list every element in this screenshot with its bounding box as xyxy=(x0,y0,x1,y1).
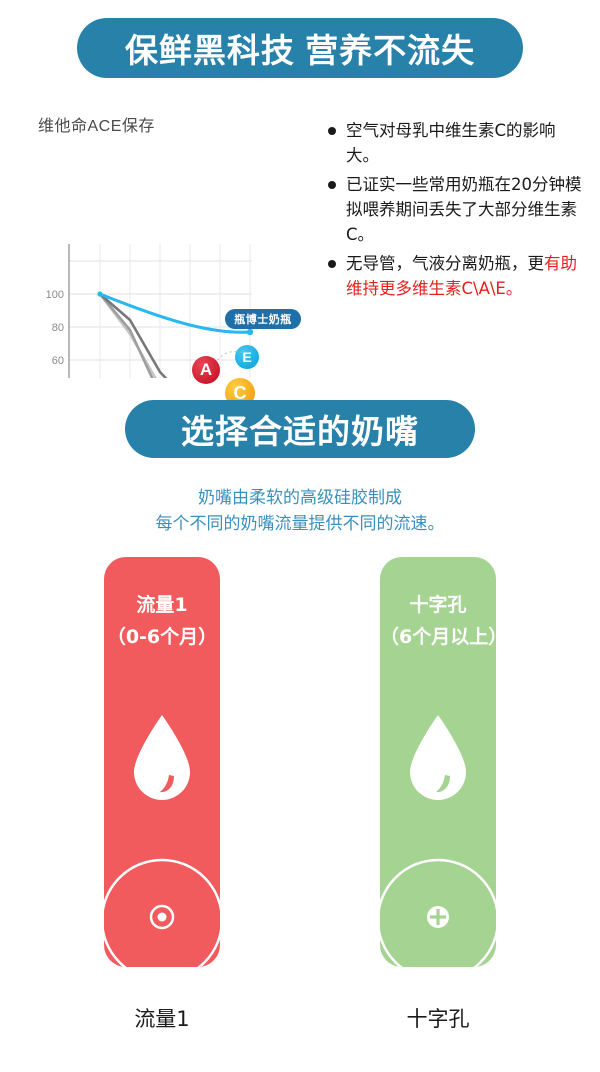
card-right-subtitle: （6个月以上） xyxy=(380,621,496,653)
chart-line-normal-a xyxy=(100,294,250,378)
bullet-dot-icon xyxy=(328,127,336,135)
vitamin-a-label: A xyxy=(200,360,212,380)
card-right-drop xyxy=(380,712,496,804)
list-item: 已证实一些常用奶瓶在20分钟模拟喂养期间丢失了大部分维生素C。 xyxy=(328,172,586,247)
svg-text:60: 60 xyxy=(52,355,64,367)
benefit-bullet-list: 空气对母乳中维生素C的影响大。 已证实一些常用奶瓶在20分钟模拟喂养期间丢失了大… xyxy=(328,118,586,305)
subcaption-line-2: 每个不同的奶嘴流量提供不同的流速。 xyxy=(0,511,600,537)
chart-y-ticks: 100 80 60 40 20 xyxy=(46,289,64,378)
card-right-bottom-label: 十字孔 xyxy=(358,1003,518,1033)
vitamin-a-badge: A xyxy=(192,356,220,384)
banner-choose-nipple: 选择合适的奶嘴 xyxy=(125,400,475,458)
card-left-title: 流量1 xyxy=(104,589,220,621)
banner-top-text: 保鲜黑科技 营养不流失 xyxy=(125,24,475,72)
card-left-bottom-label: 流量1 xyxy=(82,1003,242,1033)
chart-legend-dr-bottle: 瓶博士奶瓶 xyxy=(225,309,301,329)
bullet-text-1: 空气对母乳中维生素C的影响大。 xyxy=(346,118,586,168)
vitamin-e-badge: E xyxy=(235,345,259,369)
subcaption-line-1: 奶嘴由柔软的高级硅胶制成 xyxy=(0,485,600,511)
chart-line-normal-c xyxy=(100,294,250,378)
svg-text:80: 80 xyxy=(52,322,64,334)
list-item: 空气对母乳中维生素C的影响大。 xyxy=(328,118,586,168)
round-hole-icon xyxy=(104,857,220,967)
bullet-text-3: 无导管，气液分离奶瓶，更有助维持更多维生素C\A\E。 xyxy=(346,251,586,301)
chart-plot-svg: 100 80 60 40 20 0 4 8 12 16 20 24 分钟 xyxy=(22,106,314,378)
card-right-hole xyxy=(380,857,496,967)
banner-preservation-tech: 保鲜黑科技 营养不流失 xyxy=(77,18,523,78)
card-right-title: 十字孔 xyxy=(380,589,496,621)
cross-hole-icon xyxy=(380,857,496,967)
vitamin-e-label: E xyxy=(242,349,251,365)
banner-middle-text: 选择合适的奶嘴 xyxy=(181,405,419,453)
card-left-subtitle: （0-6个月） xyxy=(104,621,220,653)
water-drop-icon xyxy=(404,712,472,804)
chart-point-dr-end xyxy=(247,329,253,335)
card-left-drop xyxy=(104,712,220,804)
bullet-dot-icon xyxy=(328,181,336,189)
chart-line-normal-b xyxy=(100,294,250,378)
nipple-subcaption: 奶嘴由柔软的高级硅胶制成 每个不同的奶嘴流量提供不同的流速。 xyxy=(0,485,600,537)
card-left-hole xyxy=(104,857,220,967)
bullet-dot-icon xyxy=(328,260,336,268)
bullet-text-3-lead: 无导管，气液分离奶瓶，更 xyxy=(346,254,544,273)
chart-point-start xyxy=(97,291,102,296)
water-drop-icon xyxy=(128,712,196,804)
list-item: 无导管，气液分离奶瓶，更有助维持更多维生素C\A\E。 xyxy=(328,251,586,301)
infographic-page: 保鲜黑科技 营养不流失 维他命ACE保存 xyxy=(0,0,600,1072)
svg-text:100: 100 xyxy=(46,289,64,301)
vitamin-retention-chart: 维他命ACE保存 xyxy=(22,106,314,378)
chart-legend-dr-bottle-label: 瓶博士奶瓶 xyxy=(234,311,292,327)
nipple-card-cross: 十字孔 （6个月以上） xyxy=(380,557,496,967)
nipple-card-flow1: 流量1 （0-6个月） xyxy=(104,557,220,967)
bullet-text-2: 已证实一些常用奶瓶在20分钟模拟喂养期间丢失了大部分维生素C。 xyxy=(346,172,586,247)
